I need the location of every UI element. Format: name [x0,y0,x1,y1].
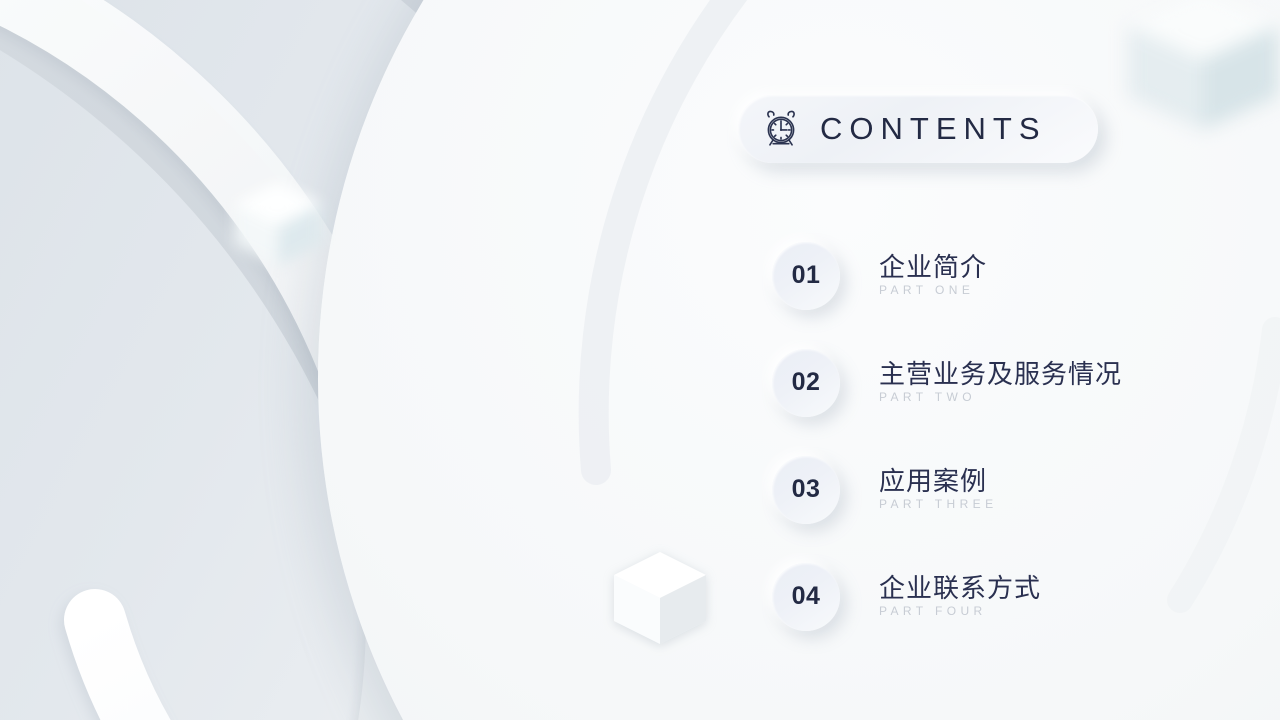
toc-text-group: 应用案例 PART THREE [879,468,997,511]
toc-title: 企业简介 [879,254,987,281]
toc-number: 04 [792,582,821,611]
toc-number-badge: 03 [772,456,840,524]
toc-number: 01 [792,261,821,290]
toc-item-03[interactable]: 03 应用案例 PART THREE [738,436,1280,543]
toc-number: 03 [792,475,821,504]
toc-subtitle: PART THREE [879,497,997,511]
toc-number-badge: 01 [772,242,840,310]
toc-text-group: 主营业务及服务情况 PART TWO [879,361,1122,404]
toc-title: 应用案例 [879,468,997,495]
toc-number-badge: 04 [772,563,840,631]
toc-number: 02 [792,368,821,397]
toc-item-04[interactable]: 04 企业联系方式 PART FOUR [738,543,1280,650]
slide-canvas: CONTENTS 01 企业简介 PART ONE 02 主营业务及服务情况 [0,0,1280,720]
toc-subtitle: PART ONE [879,283,987,297]
toc-text-group: 企业联系方式 PART FOUR [879,575,1041,618]
toc-item-01[interactable]: 01 企业简介 PART ONE [738,222,1280,329]
contents-header: CONTENTS [738,95,1098,163]
toc-text-group: 企业简介 PART ONE [879,254,987,297]
toc-item-02[interactable]: 02 主营业务及服务情况 PART TWO [738,329,1280,436]
toc-subtitle: PART TWO [879,390,1122,404]
content-panel: CONTENTS 01 企业简介 PART ONE 02 主营业务及服务情况 [738,0,1280,720]
toc-number-badge: 02 [772,349,840,417]
toc-list: 01 企业简介 PART ONE 02 主营业务及服务情况 PART TWO [738,222,1280,650]
toc-subtitle: PART FOUR [879,604,1041,618]
toc-title: 企业联系方式 [879,575,1041,602]
cube-bottom-center [608,548,712,648]
cube-mid-left [228,176,328,272]
toc-title: 主营业务及服务情况 [879,361,1122,388]
contents-title: CONTENTS [820,111,1047,147]
alarm-clock-icon [760,108,802,150]
